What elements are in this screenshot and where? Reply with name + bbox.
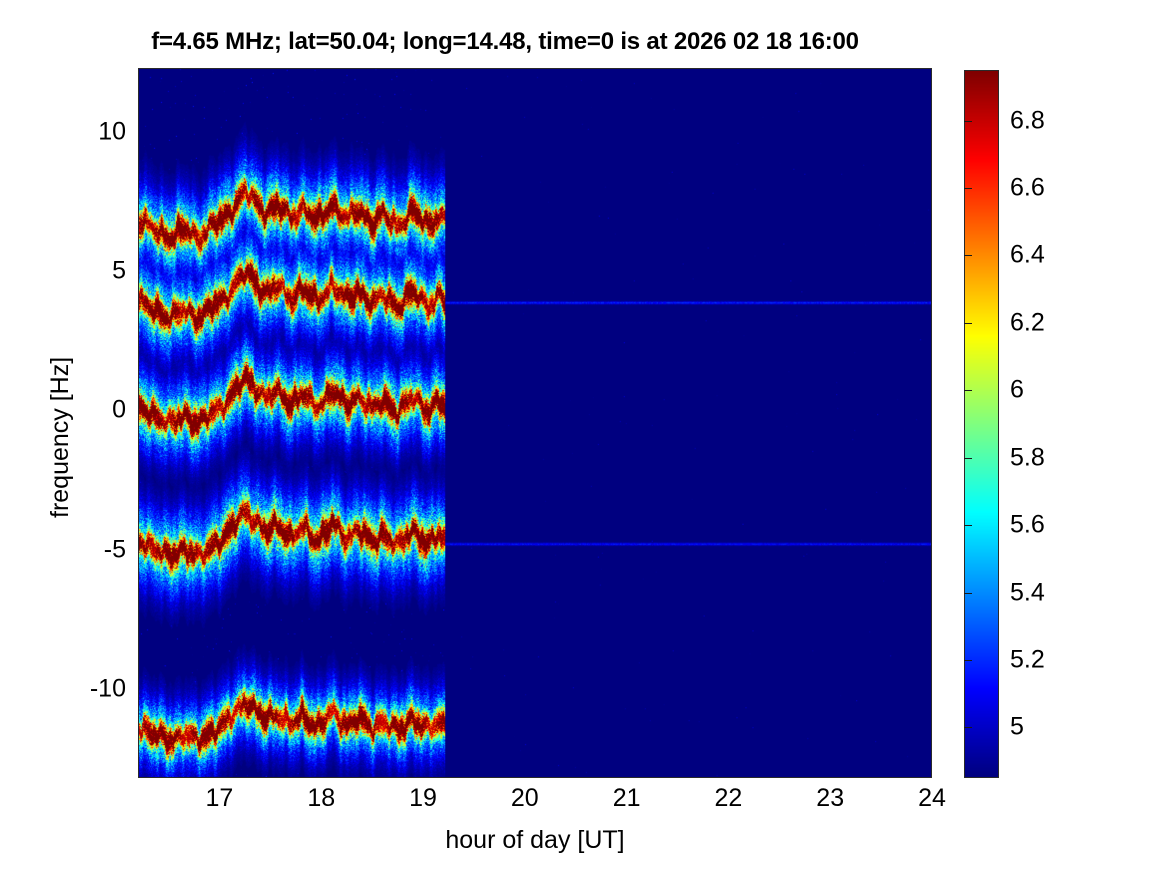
colorbar-tick-mark bbox=[964, 255, 972, 256]
colorbar-tick-mark bbox=[964, 525, 972, 526]
x-tick-label: 24 bbox=[918, 784, 946, 813]
y-axis-label: frequency [Hz] bbox=[46, 357, 75, 518]
colorbar-tick-mark bbox=[964, 121, 972, 122]
x-tick-label: 22 bbox=[715, 784, 743, 813]
x-tick-label: 21 bbox=[613, 784, 641, 813]
plot-area bbox=[138, 68, 932, 778]
colorbar-tick-mark bbox=[964, 188, 972, 189]
colorbar-tick-label: 5.4 bbox=[1010, 578, 1045, 607]
chart-title: f=4.65 MHz; lat=50.04; long=14.48, time=… bbox=[0, 28, 1010, 56]
colorbar-tick-label: 6.8 bbox=[1010, 106, 1045, 135]
colorbar-tick-label: 5.6 bbox=[1010, 511, 1045, 540]
colorbar-tick-label: 5.2 bbox=[1010, 646, 1045, 675]
x-tick-label: 18 bbox=[307, 784, 335, 813]
y-tick-label: 10 bbox=[6, 118, 126, 147]
x-tick-label: 17 bbox=[206, 784, 234, 813]
colorbar bbox=[964, 70, 999, 778]
colorbar-tick-label: 5 bbox=[1010, 713, 1024, 742]
figure-spectrogram: f=4.65 MHz; lat=50.04; long=14.48, time=… bbox=[0, 0, 1167, 875]
colorbar-tick-mark bbox=[964, 390, 972, 391]
colorbar-tick-label: 6.4 bbox=[1010, 241, 1045, 270]
x-tick-label: 20 bbox=[511, 784, 539, 813]
colorbar-tick-label: 6 bbox=[1010, 376, 1024, 405]
x-tick-label: 19 bbox=[409, 784, 437, 813]
x-axis-label: hour of day [UT] bbox=[138, 826, 932, 855]
colorbar-tick-mark bbox=[964, 660, 972, 661]
spectrogram-image bbox=[139, 69, 931, 777]
colorbar-tick-label: 5.8 bbox=[1010, 443, 1045, 472]
y-tick-label: 5 bbox=[6, 257, 126, 286]
colorbar-gradient bbox=[965, 71, 998, 777]
x-tick-label: 23 bbox=[816, 784, 844, 813]
y-tick-label: 0 bbox=[6, 396, 126, 425]
colorbar-tick-label: 6.2 bbox=[1010, 308, 1045, 337]
colorbar-tick-mark bbox=[964, 593, 972, 594]
colorbar-tick-mark bbox=[964, 458, 972, 459]
colorbar-tick-label: 6.6 bbox=[1010, 174, 1045, 203]
colorbar-tick-mark bbox=[964, 727, 972, 728]
y-tick-label: -5 bbox=[6, 535, 126, 564]
colorbar-tick-mark bbox=[964, 323, 972, 324]
y-tick-label: -10 bbox=[6, 674, 126, 703]
